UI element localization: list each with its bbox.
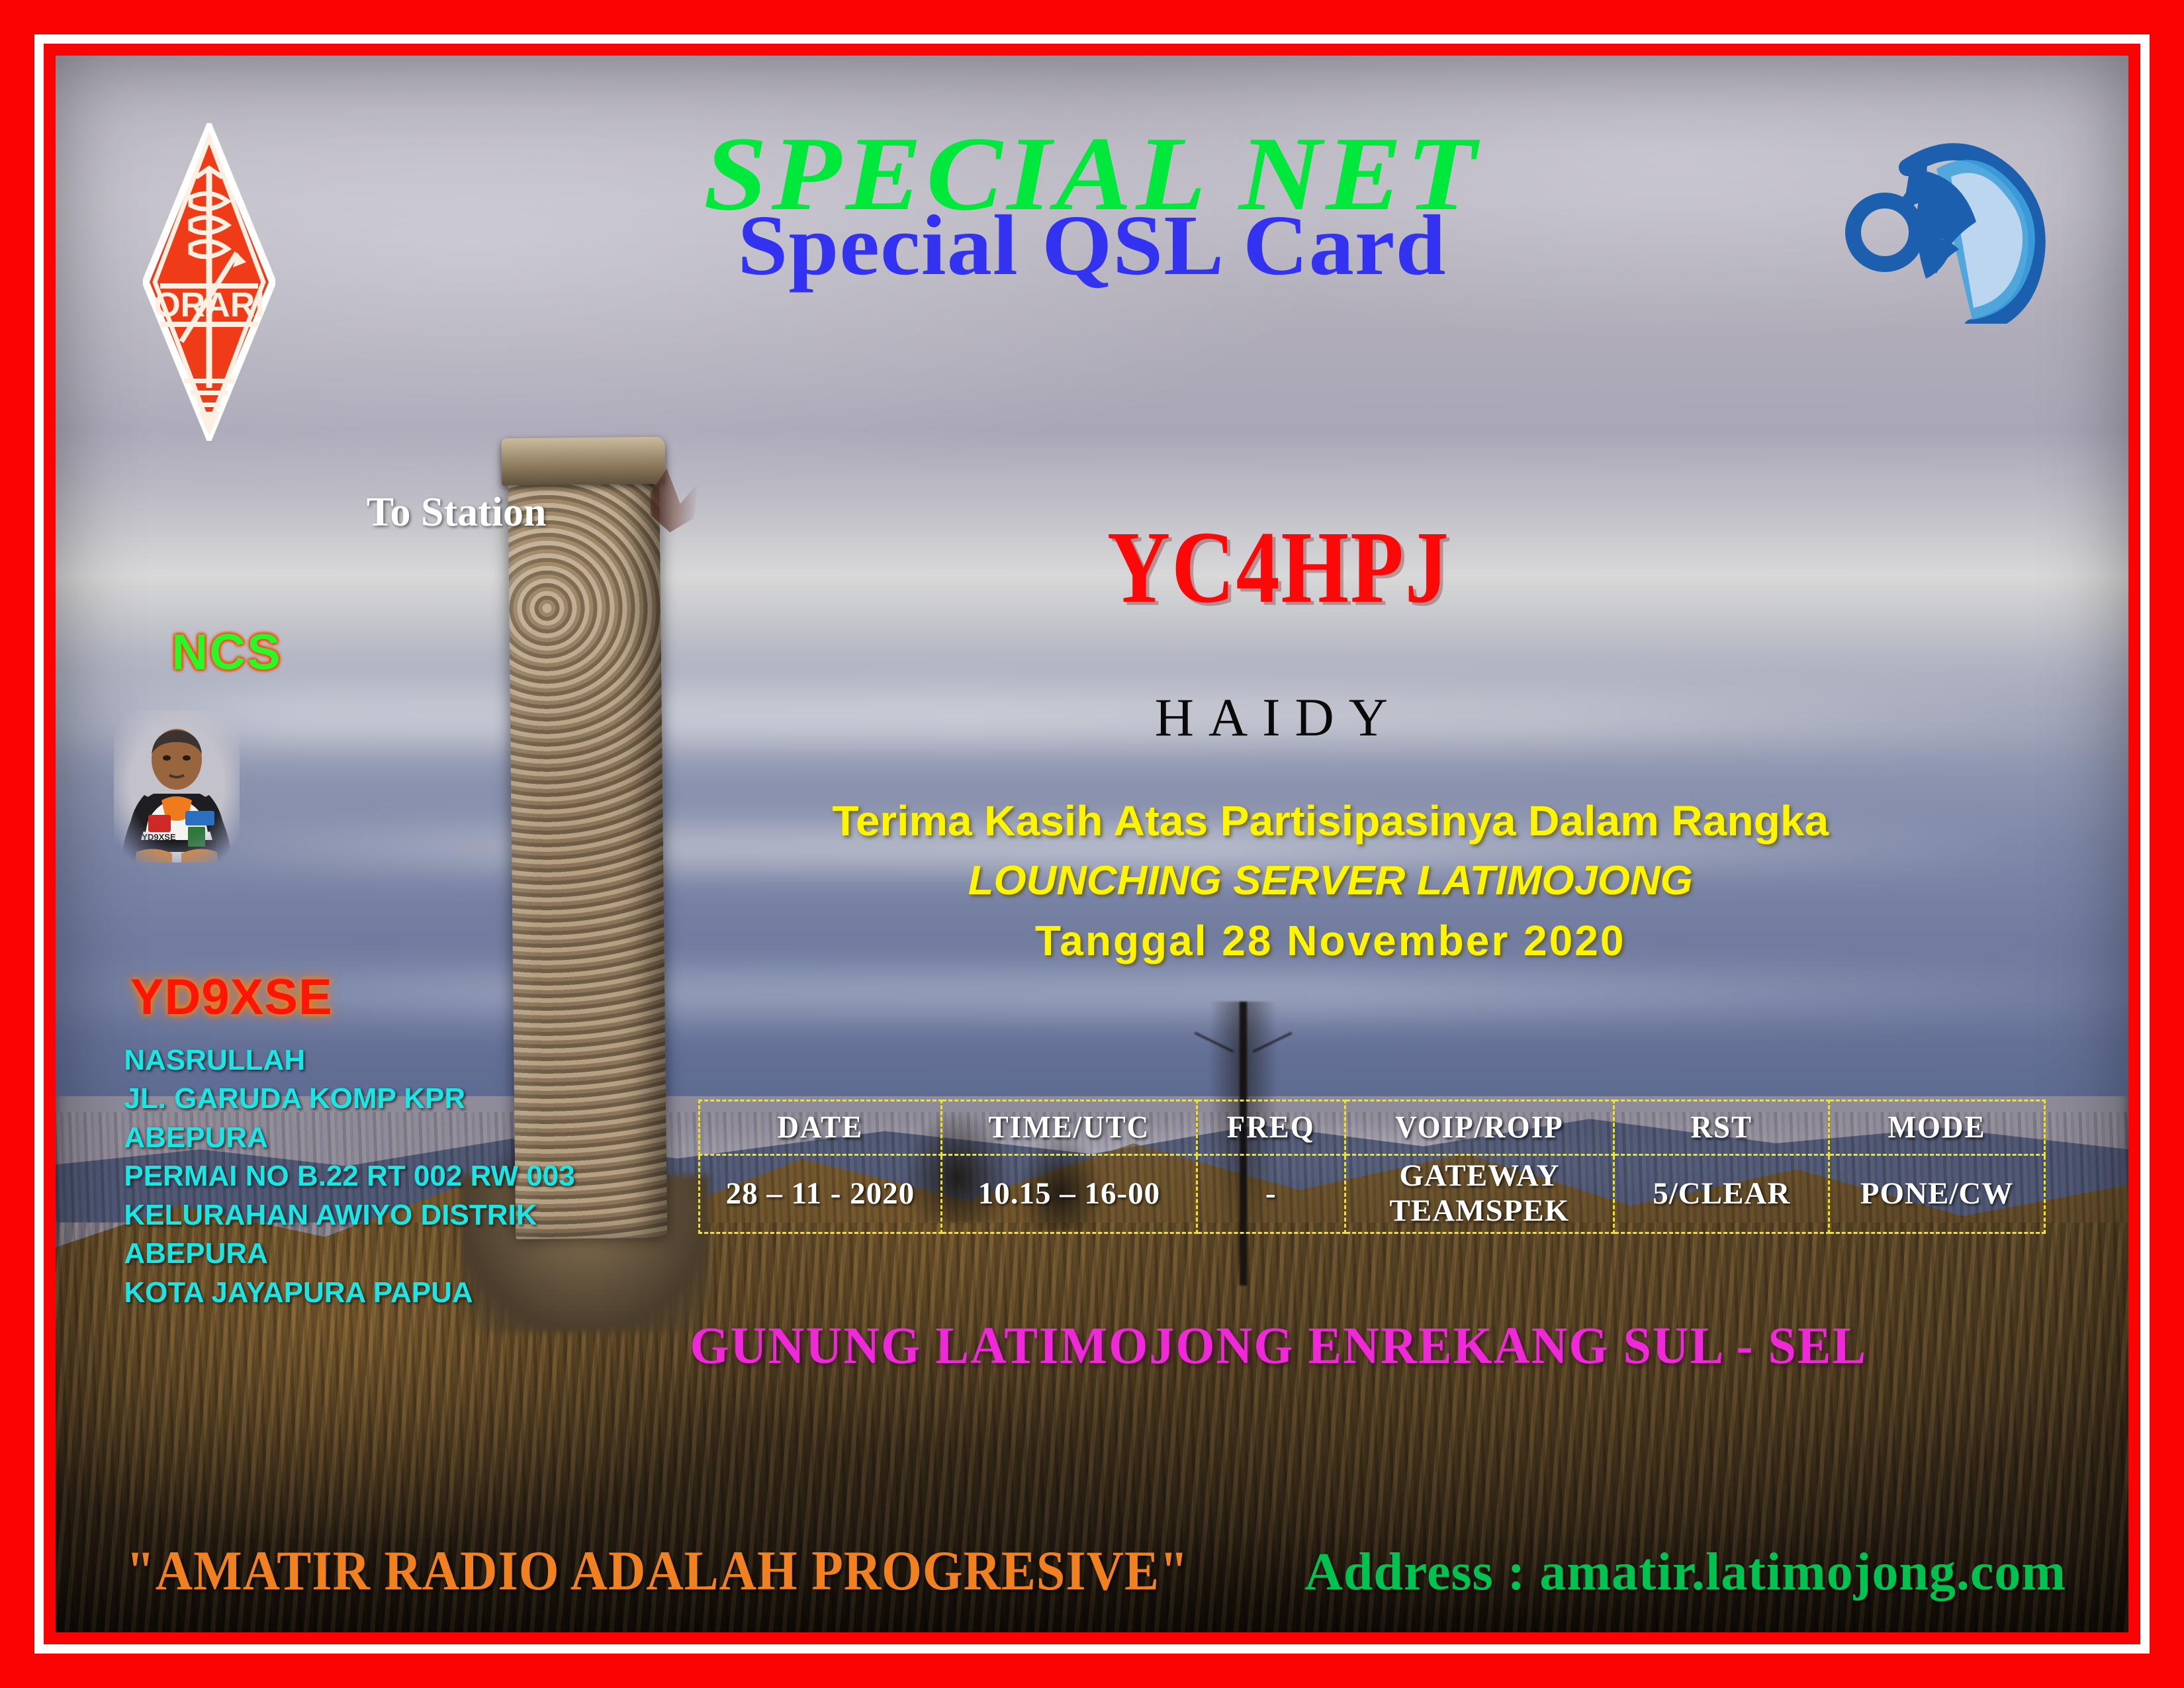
ncs-callsign: YD9XSE bbox=[130, 968, 333, 1026]
column-header-rst: RST bbox=[1614, 1099, 1829, 1156]
address-line: ABEPURA bbox=[124, 1119, 574, 1158]
column-header-freq: FREQ bbox=[1197, 1099, 1345, 1156]
cell-voip: GATEWAY TEAMSPEK bbox=[1345, 1154, 1614, 1233]
qsl-card-background-photo: ORARI SPE bbox=[56, 56, 2128, 1632]
address-line: KELURAHAN AWIYO DISTRIK bbox=[124, 1196, 574, 1235]
address-line: JL. GARUDA KOMP KPR bbox=[124, 1080, 574, 1119]
address-line: NASRULLAH bbox=[124, 1041, 574, 1080]
ncs-label: NCS bbox=[171, 624, 281, 681]
qsl-card-white-gap: ORARI SPE bbox=[34, 34, 2150, 1654]
column-header-mode: MODE bbox=[1829, 1099, 2044, 1156]
uniform-callsign-text: YD9XSE bbox=[142, 832, 176, 842]
slogan-text: "AMATIR RADIO ADALAH PROGRESIVE" bbox=[126, 1539, 1189, 1603]
table-row: 28 – 11 - 2020 10.15 – 16-00 - GATEWAY T… bbox=[699, 1154, 2044, 1233]
to-station-label: To Station bbox=[367, 489, 547, 536]
ncs-operator-photo: YD9XSE bbox=[114, 710, 240, 863]
page-subtitle-special-qsl-card: Special QSL Card bbox=[56, 196, 2128, 295]
event-text-block: Terima Kasih Atas Partisipasinya Dalam R… bbox=[760, 797, 1901, 966]
monument-cap bbox=[501, 436, 665, 485]
event-thanks-line: Terima Kasih Atas Partisipasinya Dalam R… bbox=[743, 797, 1917, 846]
address-block: NASRULLAH JL. GARUDA KOMP KPR ABEPURA PE… bbox=[124, 1041, 574, 1313]
event-title-line: LOUNCHING SERVER LATIMOJONG bbox=[749, 857, 1912, 904]
column-header-date: DATE bbox=[699, 1099, 941, 1156]
column-header-voip: VOIP/ROIP bbox=[1345, 1099, 1614, 1156]
recipient-callsign: YC4HPJ bbox=[864, 507, 1693, 627]
address-line: PERMAI NO B.22 RT 002 RW 003 bbox=[124, 1157, 574, 1196]
event-date-line: Tanggal 28 November 2020 bbox=[760, 916, 1901, 965]
cell-date: 28 – 11 - 2020 bbox=[699, 1154, 941, 1233]
cell-rst: 5/CLEAR bbox=[1614, 1154, 1829, 1233]
table-header-row: DATE TIME/UTC FREQ VOIP/ROIP RST MODE bbox=[699, 1100, 2044, 1154]
operator-name: HAIDY bbox=[864, 686, 1693, 749]
column-header-time: TIME/UTC bbox=[941, 1099, 1197, 1156]
qso-log-table: DATE TIME/UTC FREQ VOIP/ROIP RST MODE 28… bbox=[698, 1100, 2046, 1234]
address-line: ABEPURA bbox=[124, 1235, 574, 1274]
cloud-band bbox=[56, 970, 2128, 1017]
qsl-card-inner-border: ORARI SPE bbox=[44, 44, 2140, 1644]
qsl-card-outer-border: ORARI SPE bbox=[0, 0, 2184, 1688]
cell-mode: PONE/CW bbox=[1829, 1154, 2044, 1233]
location-line: GUNUNG LATIMOJONG ENREKANG SUL - SEL bbox=[657, 1315, 1900, 1376]
address-line: KOTA JAYAPURA PAPUA bbox=[124, 1274, 574, 1313]
cell-freq: - bbox=[1197, 1154, 1345, 1233]
web-address-text: Address : amatir.latimojong.com bbox=[1304, 1542, 2066, 1603]
cell-voip-line2: TEAMSPEK bbox=[1346, 1194, 1614, 1229]
cell-voip-line1: GATEWAY bbox=[1346, 1158, 1614, 1194]
cell-time: 10.15 – 16-00 bbox=[941, 1154, 1197, 1233]
